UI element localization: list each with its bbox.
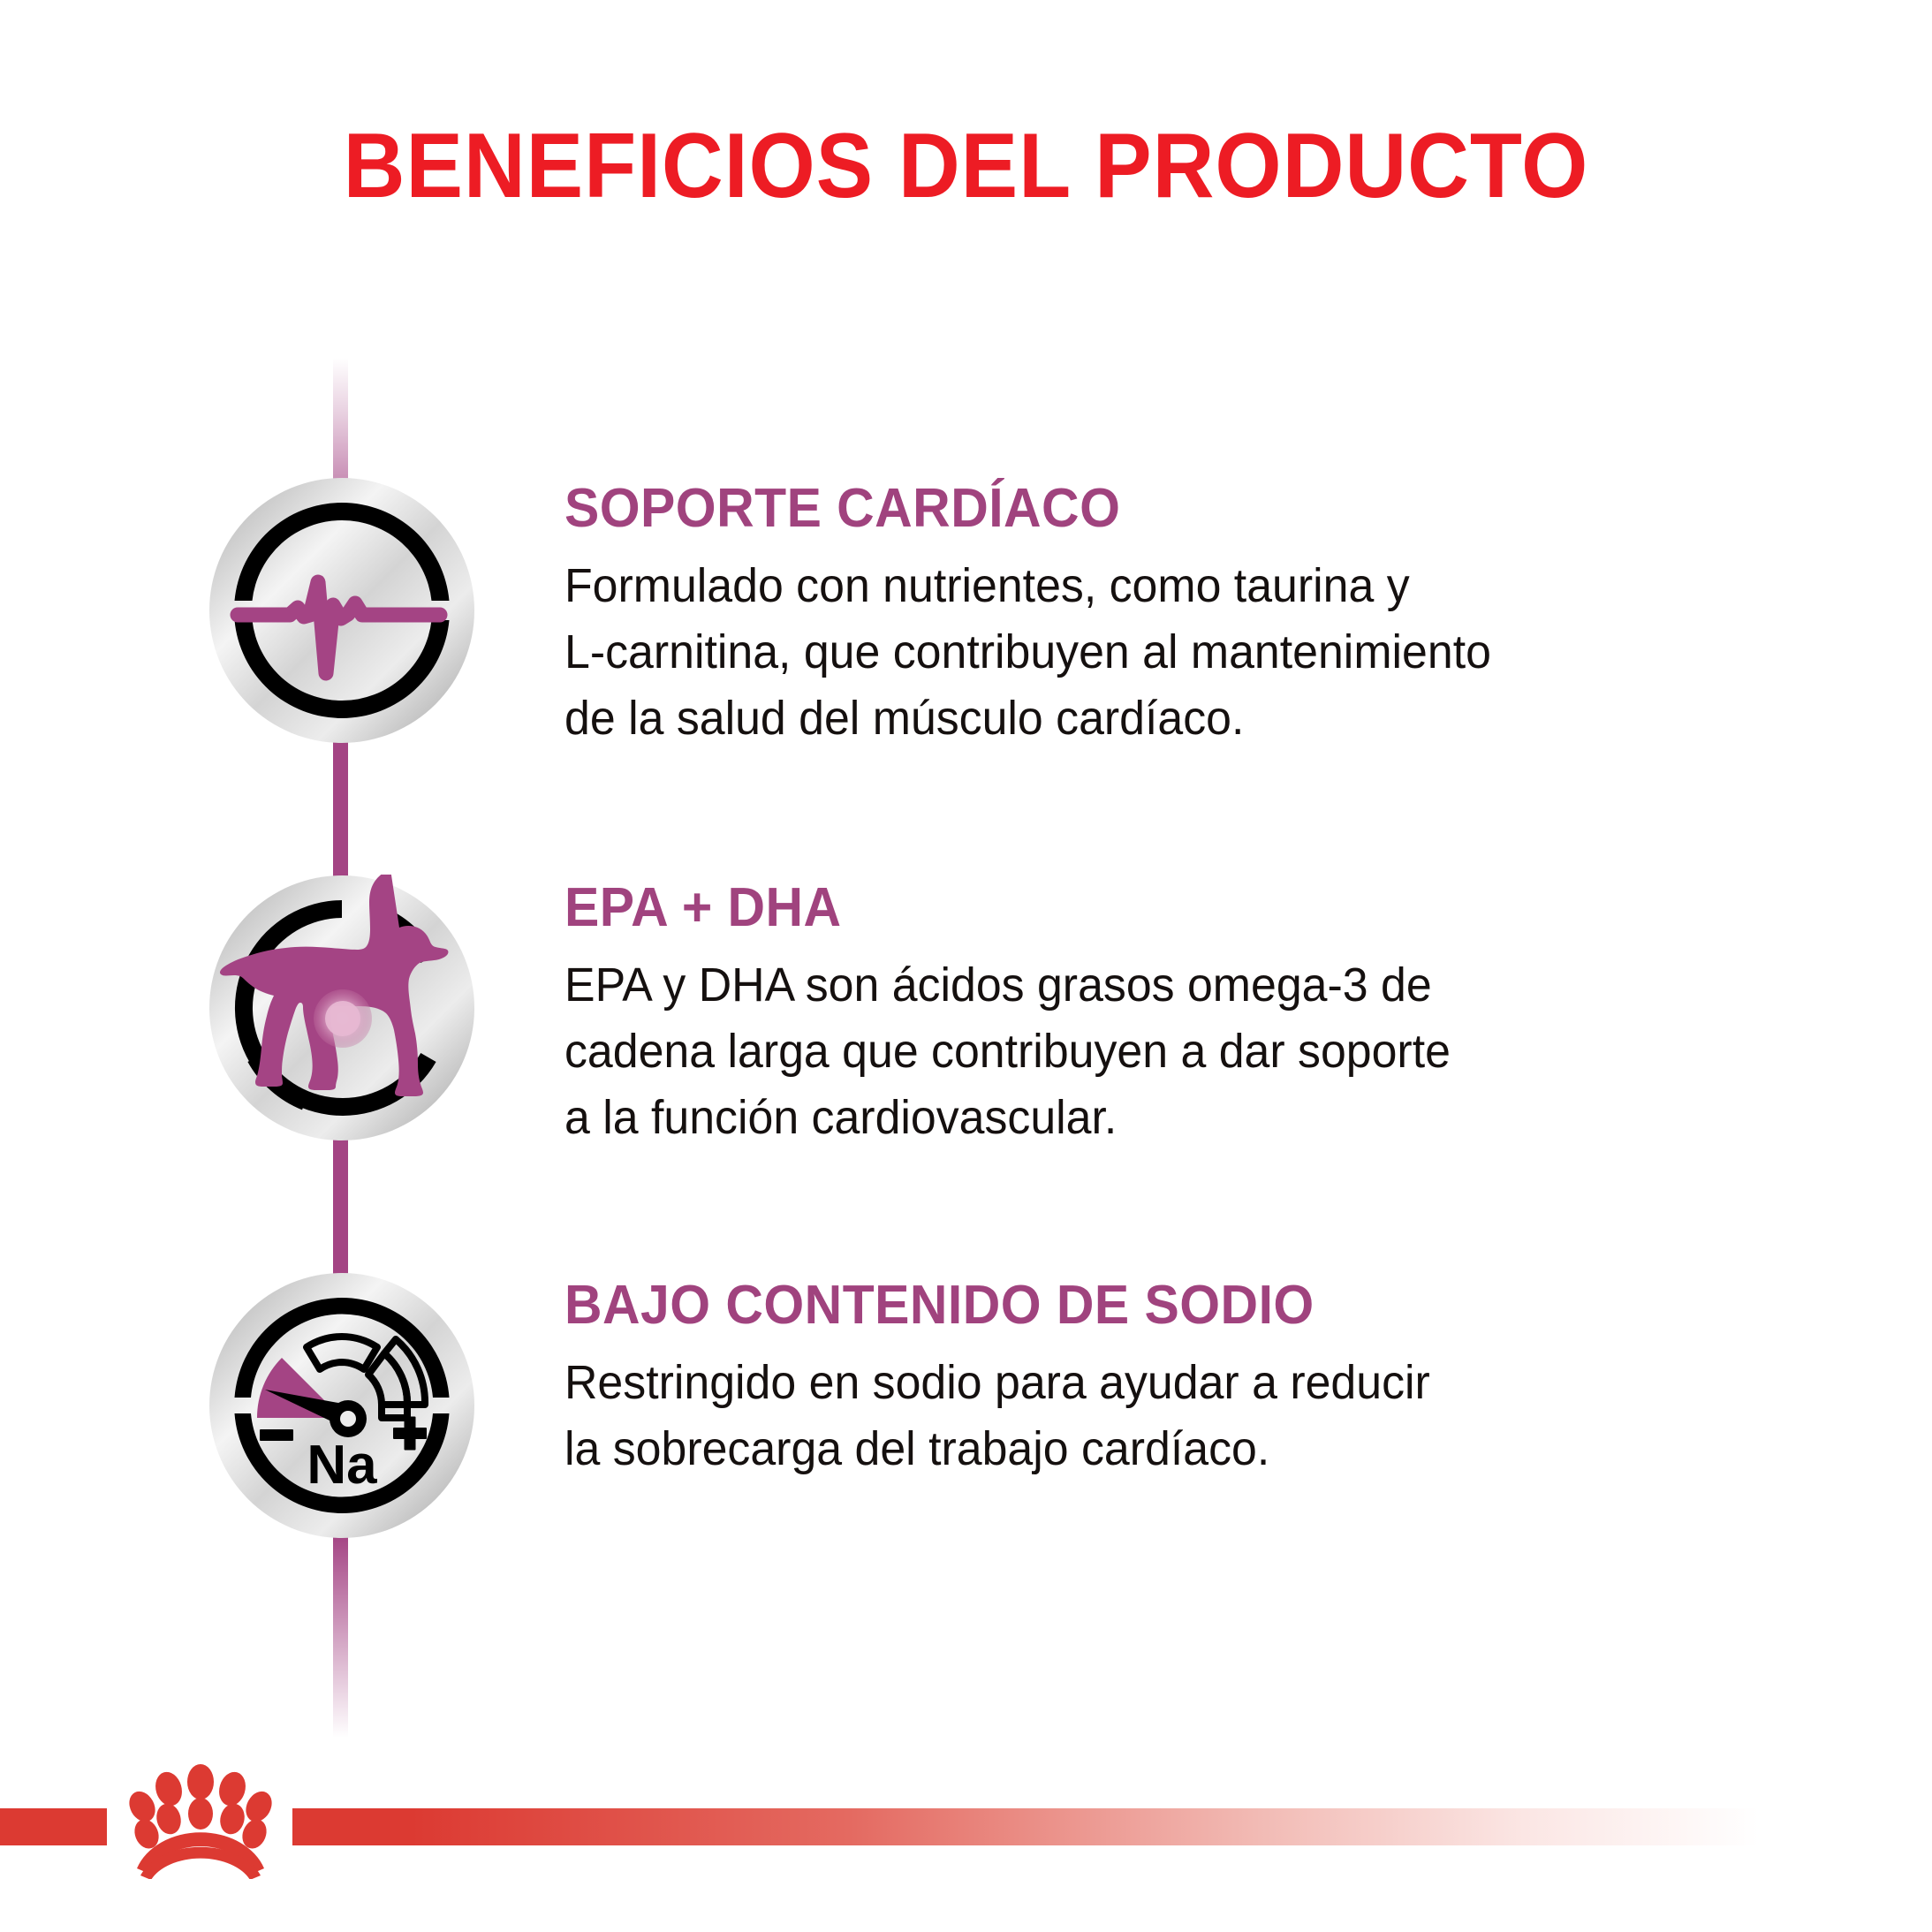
footer	[0, 1720, 1932, 1932]
ecg-heartbeat-icon	[208, 477, 475, 744]
timeline-spine-bottom	[333, 1534, 348, 1738]
benefit-body-line: L-carnitina, que contribuyen al mantenim…	[564, 619, 1684, 686]
benefit-body-line: Restringido en sodio para ayudar a reduc…	[564, 1350, 1684, 1416]
benefit-text-block: SOPORTE CARDÍACO Formulado con nutriente…	[564, 477, 1731, 752]
benefit-body-line: de la salud del músculo cardíaco.	[564, 686, 1684, 752]
gauge-element-label: Na	[307, 1435, 377, 1496]
benefit-item-epa-dha: EPA + DHA EPA y DHA son ácidos grasos om…	[0, 875, 1932, 1148]
benefit-text-block: BAJO CONTENIDO DE SODIO Restringido en s…	[564, 1272, 1731, 1482]
dog-silhouette-icon	[208, 875, 475, 1141]
benefit-body-line: la sobrecarga del trabajo cardíaco.	[564, 1416, 1684, 1482]
benefit-body: Restringido en sodio para ayudar a reduc…	[564, 1350, 1684, 1482]
footer-bar-right	[292, 1808, 1759, 1845]
sodium-gauge-icon: Na	[208, 1272, 475, 1539]
page-title: BENEFICIOS DEL PRODUCTO	[68, 117, 1865, 216]
benefit-body: Formulado con nutrientes, como taurina y…	[564, 553, 1684, 752]
footer-bar-left	[0, 1808, 107, 1845]
benefit-body-line: Formulado con nutrientes, como taurina y	[564, 553, 1684, 619]
benefit-text-block: EPA + DHA EPA y DHA son ácidos grasos om…	[564, 875, 1731, 1151]
royal-canin-crown-paw-logo	[112, 1755, 289, 1879]
benefit-item-cardiac-support: SOPORTE CARDÍACO Formulado con nutriente…	[0, 477, 1932, 751]
benefit-body-line: a la función cardiovascular.	[564, 1085, 1684, 1151]
benefit-heading: SOPORTE CARDÍACO	[564, 479, 1672, 539]
benefit-body-line: cadena larga que contribuyen a dar sopor…	[564, 1019, 1684, 1085]
benefit-item-low-sodium: Na BAJO CONTENIDO DE SODIO Restringido e…	[0, 1272, 1932, 1546]
benefit-body-line: EPA y DHA son ácidos grasos omega-3 de	[564, 952, 1684, 1019]
benefit-heading: EPA + DHA	[564, 878, 1672, 938]
benefit-body: EPA y DHA son ácidos grasos omega-3 de c…	[564, 952, 1684, 1151]
benefit-heading: BAJO CONTENIDO DE SODIO	[564, 1276, 1672, 1336]
